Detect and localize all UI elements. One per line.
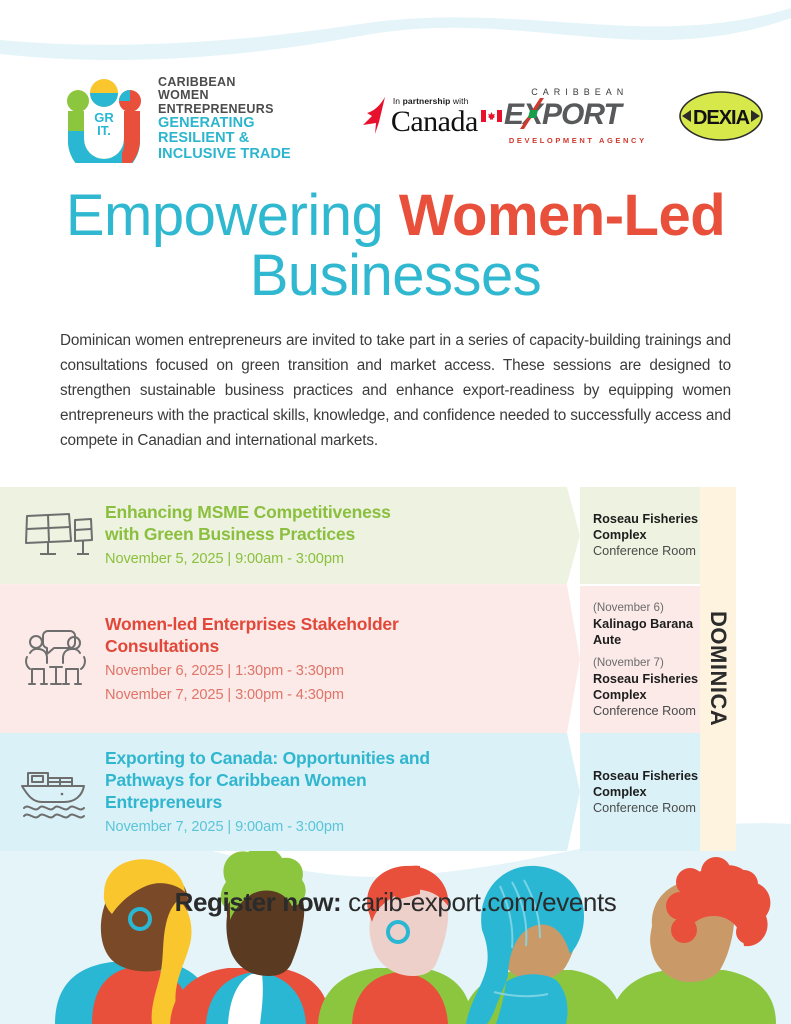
venue-name-line2: Complex <box>593 527 702 543</box>
session-row[interactable]: Enhancing MSME Competitiveness with Gree… <box>0 487 791 583</box>
hero-section: Empowering Women-Led Businesses <box>0 186 791 305</box>
session-row-body[interactable]: Women-led Enterprises Stakeholder Consul… <box>0 586 567 733</box>
venue-date-label: (November 7) <box>593 655 702 670</box>
session-icon-cell <box>0 508 105 562</box>
session-title-line3: Entrepreneurs <box>105 792 222 812</box>
grit-line-entrepreneurs: ENTREPRENEURS <box>158 103 291 116</box>
country-label: DOMINICA <box>705 611 731 726</box>
session-date: November 6, 2025 | 1:30pm - 3:30pm <box>105 661 547 681</box>
venue-name-line1: Kalinago Barana Aute <box>593 616 702 648</box>
session-text-cell: Exporting to Canada: Opportunities and P… <box>105 747 567 837</box>
canada-logo: In partnership with Canada <box>361 95 478 137</box>
sessions-table: DOMINICA Enhan <box>0 487 791 851</box>
page-title: Empowering Women-Led Businesses <box>48 186 743 305</box>
session-venue-cell: (November 6) Kalinago Barana Aute (Novem… <box>580 586 712 733</box>
venue-block: (November 7) Roseau Fisheries Complex Co… <box>593 655 702 719</box>
women-profiles-illustration <box>0 842 791 1024</box>
woman-profile-5 <box>610 857 776 1024</box>
session-venue-cell: Roseau Fisheries Complex Conference Room <box>580 733 712 851</box>
venue-block: Roseau Fisheries Complex Conference Room <box>593 768 702 816</box>
venue-date-label: (November 6) <box>593 600 702 615</box>
venue-name-line2: Complex <box>593 687 702 703</box>
hero-line1-plain: Empowering <box>66 183 399 248</box>
session-row[interactable]: Exporting to Canada: Opportunities and P… <box>0 733 791 851</box>
partner-logos: In partnership with Canada CARIBBEAN EX <box>361 87 764 146</box>
carib-export-wordmark-svg: EXPORT <box>504 96 652 132</box>
venue-room: Conference Room <box>593 800 702 816</box>
register-url[interactable]: carib-export.com/events <box>341 887 616 917</box>
session-title: Women-led Enterprises Stakeholder Consul… <box>105 613 547 657</box>
venue-room: Conference Room <box>593 543 702 559</box>
session-title-line1: Enhancing MSME Competitiveness <box>105 502 391 522</box>
session-venue-cell: Roseau Fisheries Complex Conference Room <box>580 487 712 583</box>
session-title-line2: Consultations <box>105 636 219 656</box>
canada-flag-icon <box>481 110 502 122</box>
session-text-cell: Enhancing MSME Competitiveness with Gree… <box>105 501 567 569</box>
session-title-line1: Women-led Enterprises Stakeholder <box>105 614 399 634</box>
session-title-line2: with Green Business Practices <box>105 524 355 544</box>
cargo-ship-icon <box>18 764 98 820</box>
venue-block: (November 6) Kalinago Barana Aute <box>593 600 702 648</box>
session-row-body[interactable]: Exporting to Canada: Opportunities and P… <box>0 733 567 851</box>
hero-line1-accent: Women-Led <box>399 183 725 248</box>
session-title-line1: Exporting to Canada: Opportunities and <box>105 748 430 768</box>
session-date: November 7, 2025 | 3:00pm - 4:30pm <box>105 685 547 705</box>
session-title: Enhancing MSME Competitiveness with Gree… <box>105 501 547 545</box>
grit-wordmark: CARIBBEAN WOMEN ENTREPRENEURS GENERATING… <box>158 76 291 162</box>
grit-line-resilient: RESILIENT & <box>158 131 291 146</box>
country-rail: DOMINICA <box>700 487 736 851</box>
canada-maple-leaf-icon <box>361 95 389 137</box>
session-row[interactable]: Women-led Enterprises Stakeholder Consul… <box>0 586 791 733</box>
register-cta[interactable]: Register now: carib-export.com/events <box>0 887 791 918</box>
caribbean-export-logo: CARIBBEAN EXPORT DEVELOPMENT AGENCY <box>504 87 652 146</box>
grit-line-generating: GENERATING <box>158 116 291 131</box>
page-header: GR IT. CARIBBEAN WOMEN ENTREPRENEURS GEN… <box>0 0 791 172</box>
venue-name-line1: Roseau Fisheries <box>593 768 702 784</box>
session-text-cell: Women-led Enterprises Stakeholder Consul… <box>105 613 567 705</box>
grit-logo: GR IT. <box>62 75 146 163</box>
dexia-text: DEXIA <box>693 107 750 129</box>
dexia-logo: DEXIA <box>678 90 764 142</box>
session-title: Exporting to Canada: Opportunities and P… <box>105 747 547 813</box>
venue-name-line2: Complex <box>593 784 702 800</box>
session-icon-cell <box>0 764 105 820</box>
carib-export-wordmark: EXPORT <box>504 96 652 138</box>
canada-wordmark: Canada <box>391 107 478 137</box>
carib-export-bottom-text: DEVELOPMENT AGENCY <box>509 136 647 145</box>
register-label: Register now: <box>175 887 342 917</box>
stakeholder-consultation-icon <box>18 627 98 691</box>
solar-panel-icon <box>21 508 95 562</box>
intro-paragraph: Dominican women entrepreneurs are invite… <box>60 329 731 453</box>
grit-line-inclusive-trade: INCLUSIVE TRADE <box>158 147 291 162</box>
session-date: November 7, 2025 | 9:00am - 3:00pm <box>105 817 547 837</box>
svg-text:IT.: IT. <box>97 123 111 138</box>
session-icon-cell <box>0 627 105 691</box>
woman-profile-2 <box>170 847 330 1024</box>
venue-block: Roseau Fisheries Complex Conference Room <box>593 511 702 559</box>
session-title-line2: Pathways for Caribbean Women <box>105 770 367 790</box>
grit-line-women: WOMEN <box>158 89 291 102</box>
session-row-body[interactable]: Enhancing MSME Competitiveness with Gree… <box>0 487 567 583</box>
venue-name-line1: Roseau Fisheries <box>593 511 702 527</box>
session-date: November 5, 2025 | 9:00am - 3:00pm <box>105 549 547 569</box>
hero-line2: Businesses <box>250 243 542 308</box>
venue-room: Conference Room <box>593 703 702 719</box>
venue-name-line1: Roseau Fisheries <box>593 671 702 687</box>
canada-word-text: Canada <box>391 105 478 138</box>
grit-line-caribbean: CARIBBEAN <box>158 76 291 89</box>
